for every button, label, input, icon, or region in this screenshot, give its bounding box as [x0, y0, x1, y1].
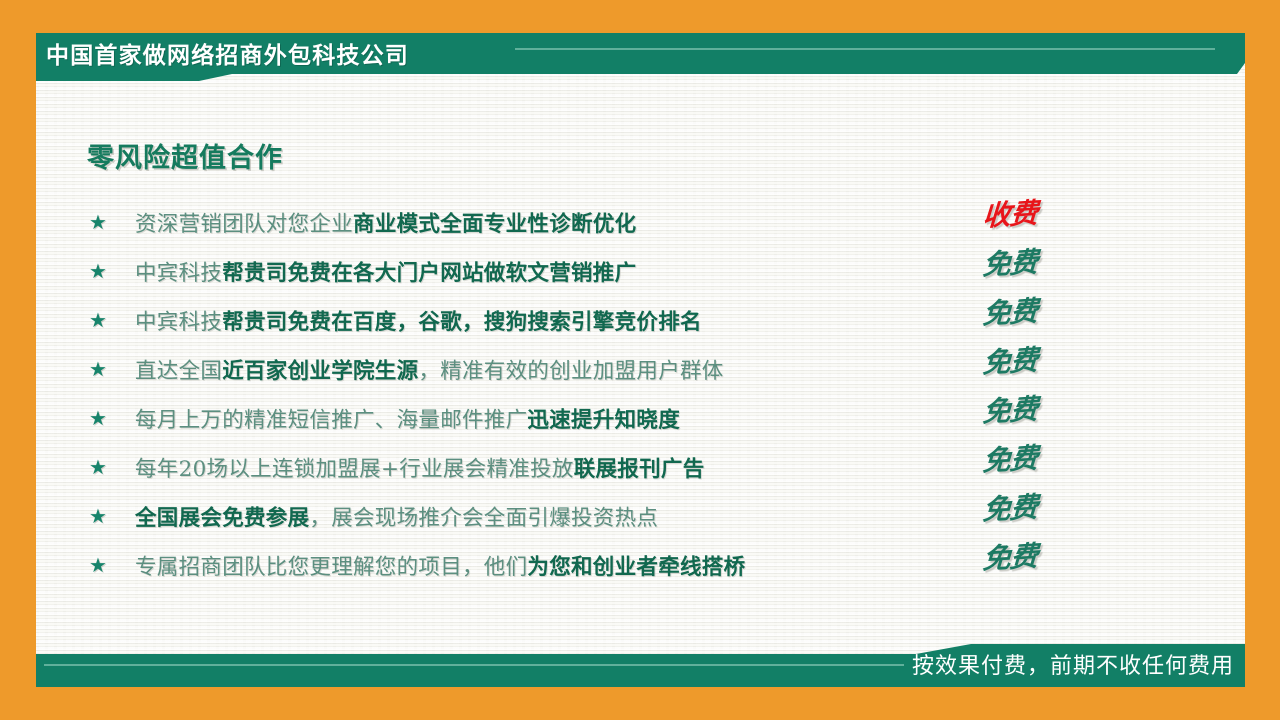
fee-row: 免费 [950, 384, 1070, 433]
list-item: ★ 中宾科技帮贵司免费在各大门户网站做软文营销推广 [87, 247, 1087, 296]
list-item: ★ 中宾科技帮贵司免费在百度，谷歌，搜狗搜索引擎竞价排名 [87, 296, 1087, 345]
list-item: ★ 直达全国近百家创业学院生源，精准有效的创业加盟用户群体 [87, 345, 1087, 394]
star-icon: ★ [87, 212, 109, 234]
fee-row: 免费 [950, 433, 1070, 482]
list-item-text: 每年20场以上连锁加盟展+行业展会精准投放联展报刊广告 [135, 452, 1087, 483]
footer-divider-line [44, 664, 904, 666]
list-item: ★ 专属招商团队比您更理解您的项目，他们为您和创业者牵线搭桥 [87, 541, 1087, 590]
fee-row: 免费 [950, 531, 1070, 580]
slide-root: 中国首家做网络招商外包科技公司 零风险超值合作 ★ 资深营销团队对您企业商业模式… [0, 0, 1280, 720]
fee-badge: 免费 [982, 534, 1039, 577]
header-divider-line [515, 48, 1215, 50]
footer-tagline: 按效果付费，前期不收任何费用 [912, 650, 1234, 682]
header-title: 中国首家做网络招商外包科技公司 [46, 38, 409, 72]
fee-badge: 免费 [982, 436, 1039, 479]
list-item-text: 中宾科技帮贵司免费在百度，谷歌，搜狗搜索引擎竞价排名 [135, 305, 1087, 336]
fee-row: 免费 [950, 335, 1070, 384]
list-item: ★ 每年20场以上连锁加盟展+行业展会精准投放联展报刊广告 [87, 443, 1087, 492]
list-item-text: 全国展会免费参展，展会现场推介会全面引爆投资热点 [135, 501, 1087, 532]
list-item-text: 中宾科技帮贵司免费在各大门户网站做软文营销推广 [135, 256, 1087, 287]
list-item: ★ 每月上万的精准短信推广、海量邮件推广迅速提升知晓度 [87, 394, 1087, 443]
fee-badge: 收费 [982, 191, 1039, 234]
list-item: ★ 全国展会免费参展，展会现场推介会全面引爆投资热点 [87, 492, 1087, 541]
fee-badge: 免费 [982, 338, 1039, 381]
list-item-text: 资深营销团队对您企业商业模式全面专业性诊断优化 [135, 207, 1087, 238]
fee-badge: 免费 [982, 387, 1039, 430]
fee-badge: 免费 [982, 240, 1039, 283]
fee-row: 免费 [950, 237, 1070, 286]
list-item-text: 每月上万的精准短信推广、海量邮件推广迅速提升知晓度 [135, 403, 1087, 434]
star-icon: ★ [87, 261, 109, 283]
star-icon: ★ [87, 408, 109, 430]
fee-badge: 免费 [982, 289, 1039, 332]
star-icon: ★ [87, 506, 109, 528]
list-item-text: 直达全国近百家创业学院生源，精准有效的创业加盟用户群体 [135, 354, 1087, 385]
benefit-list: ★ 资深营销团队对您企业商业模式全面专业性诊断优化 ★ 中宾科技帮贵司免费在各大… [87, 198, 1087, 590]
fee-badge: 免费 [982, 485, 1039, 528]
list-item: ★ 资深营销团队对您企业商业模式全面专业性诊断优化 [87, 198, 1087, 247]
fee-row: 免费 [950, 482, 1070, 531]
star-icon: ★ [87, 555, 109, 577]
fee-row: 收费 [950, 188, 1070, 237]
fee-row: 免费 [950, 286, 1070, 335]
fee-column: 收费 免费 免费 免费 免费 免费 免费 免费 [950, 188, 1070, 580]
star-icon: ★ [87, 457, 109, 479]
star-icon: ★ [87, 310, 109, 332]
star-icon: ★ [87, 359, 109, 381]
page-title: 零风险超值合作 [87, 136, 283, 175]
list-item-text: 专属招商团队比您更理解您的项目，他们为您和创业者牵线搭桥 [135, 550, 1087, 581]
